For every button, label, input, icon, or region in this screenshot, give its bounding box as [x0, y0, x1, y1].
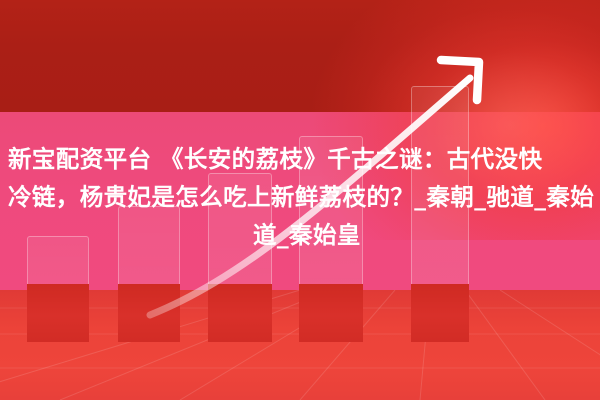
banner-headline: 新宝配资平台 《长安的荔枝》千古之谜：古代没快 冷链，杨贵妃是怎么吃上新鲜荔枝的…	[8, 140, 600, 254]
promo-banner: 新宝配资平台 《长安的荔枝》千古之谜：古代没快 冷链，杨贵妃是怎么吃上新鲜荔枝的…	[0, 0, 600, 400]
headline-line-3: 道_秦始皇	[8, 216, 600, 254]
background-band-bottom	[0, 290, 600, 400]
headline-line-2: 冷链，杨贵妃是怎么吃上新鲜荔枝的？_秦朝_驰道_秦始	[8, 178, 600, 216]
headline-line-1: 新宝配资平台 《长安的荔枝》千古之谜：古代没快	[8, 140, 600, 178]
background-band-top	[0, 0, 600, 112]
